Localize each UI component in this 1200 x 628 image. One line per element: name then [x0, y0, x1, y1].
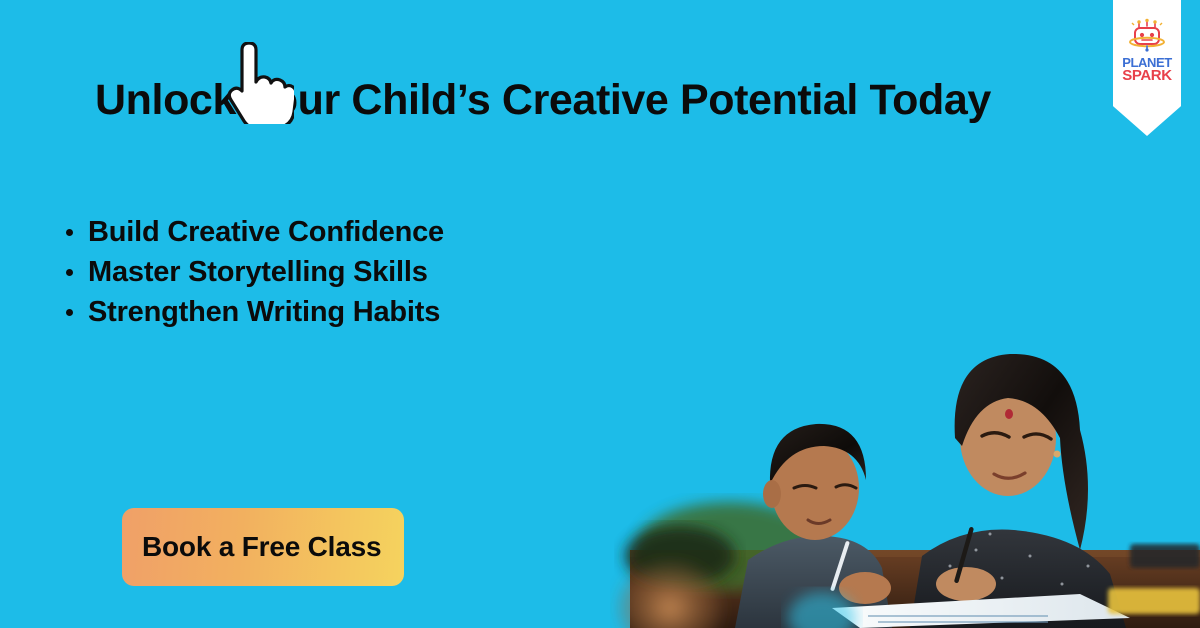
list-item-label: Strengthen Writing Habits	[88, 296, 440, 328]
cta-container: Book a Free Class	[122, 508, 404, 586]
book-free-class-button[interactable]: Book a Free Class	[122, 508, 404, 586]
list-item: Strengthen Writing Habits	[62, 292, 444, 332]
list-item-label: Master Storytelling Skills	[88, 256, 428, 288]
page-title: Unlock Your Child’s Creative Potential T…	[95, 78, 1095, 123]
list-item: Master Storytelling Skills	[62, 252, 444, 292]
list-item: Build Creative Confidence	[62, 212, 444, 252]
benefits-list: Build Creative Confidence Master Storyte…	[62, 212, 444, 332]
logo-wordmark: PLANET SPARK	[1122, 56, 1172, 82]
promo-banner: Unlock Your Child’s Creative Potential T…	[0, 0, 1200, 628]
logo-word-spark: SPARK	[1122, 69, 1172, 82]
planetspark-logo: PLANET SPARK	[1113, 0, 1181, 136]
cta-label: Book a Free Class	[142, 531, 381, 563]
planetspark-robot-icon	[1127, 18, 1167, 52]
tutor-student-photo	[610, 288, 1200, 628]
list-item-label: Build Creative Confidence	[88, 216, 444, 248]
